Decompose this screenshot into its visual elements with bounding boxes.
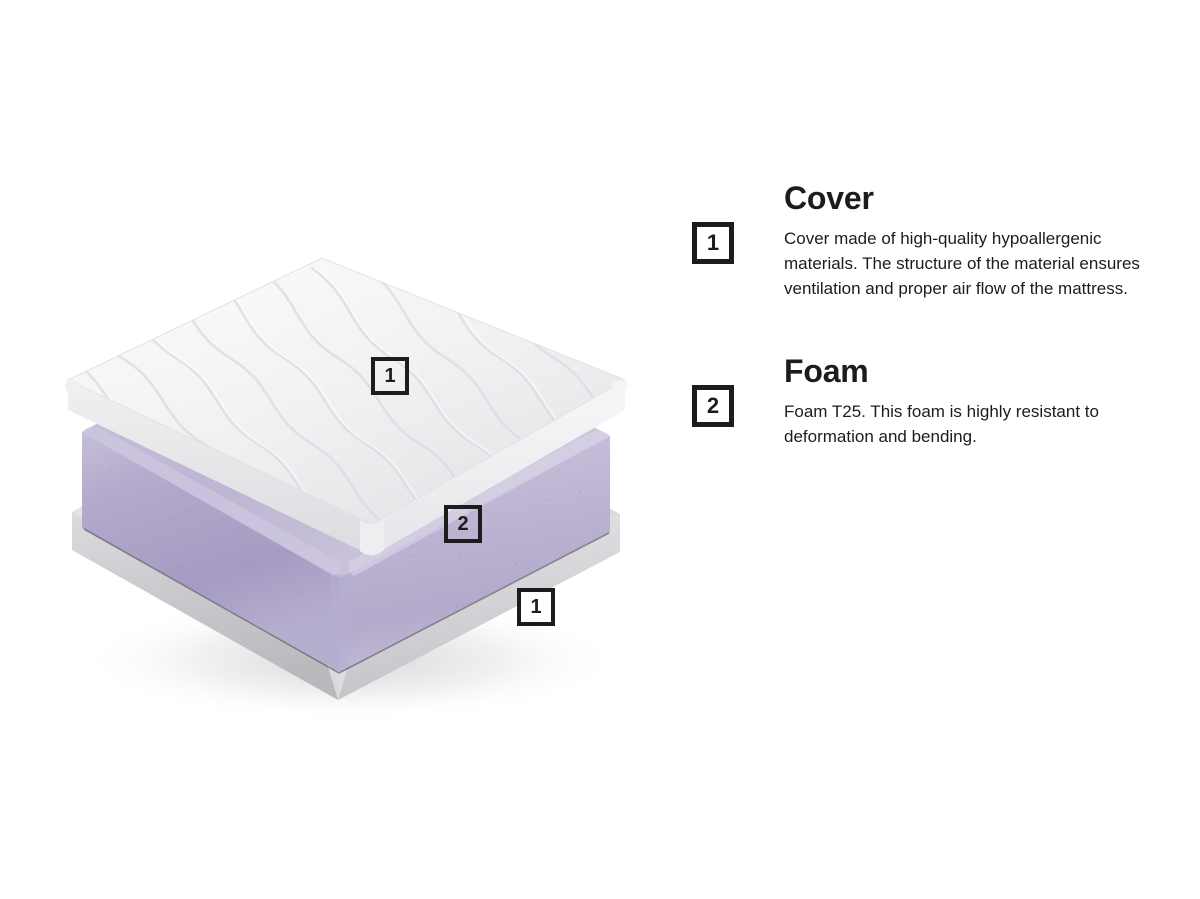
callout-cover-base[interactable]: 1 — [517, 588, 555, 626]
callout-foam[interactable]: 2 — [444, 505, 482, 543]
callout-cover-top[interactable]: 1 — [371, 357, 409, 395]
legend-body-cover: Cover made of high-quality hypoallergeni… — [784, 226, 1162, 301]
legend-badge-2: 2 — [692, 385, 734, 427]
legend-panel: 1 Cover Cover made of high-quality hypoa… — [692, 180, 1162, 449]
legend-text-cover: Cover Cover made of high-quality hypoall… — [784, 180, 1162, 301]
diagram-page: 1 2 1 1 Cover Cover made of high-quality… — [0, 0, 1200, 899]
legend-title-cover: Cover — [784, 180, 1162, 216]
legend-title-foam: Foam — [784, 353, 1162, 389]
legend-item-foam[interactable]: 2 Foam Foam T25. This foam is highly res… — [692, 353, 1162, 449]
legend-badge-1: 1 — [692, 222, 734, 264]
mattress-illustration: 1 2 1 — [0, 0, 700, 899]
legend-body-foam: Foam T25. This foam is highly resistant … — [784, 399, 1162, 449]
legend-text-foam: Foam Foam T25. This foam is highly resis… — [784, 353, 1162, 449]
legend-item-cover[interactable]: 1 Cover Cover made of high-quality hypoa… — [692, 180, 1162, 301]
